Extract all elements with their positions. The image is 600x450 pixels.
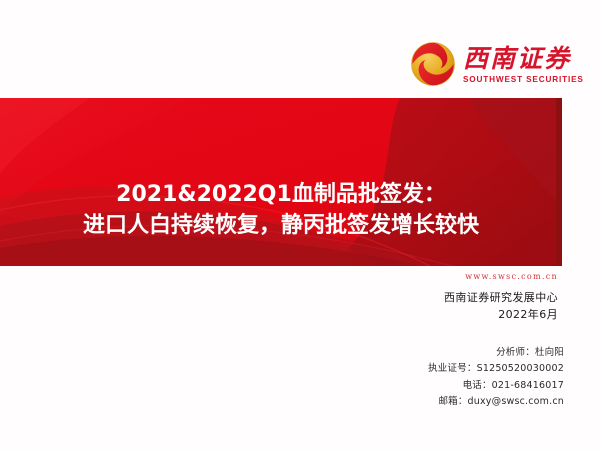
- logo-wordmark: 西南证券 SOUTHWEST SECURITIES: [463, 44, 584, 83]
- company-logo: 西南证券 SOUTHWEST SECURITIES: [410, 36, 585, 92]
- publisher-info: 西南证券研究发展中心 2022年6月: [0, 290, 562, 323]
- logo-english-name: SOUTHWEST SECURITIES: [463, 76, 584, 84]
- analyst-name: 分析师：杜向阳: [0, 345, 564, 361]
- hero-banner: 2021&2022Q1血制品批签发： 进口人白持续恢复，静丙批签发增长较快: [0, 98, 562, 266]
- report-title-line-2: 进口人白持续恢复，静丙批签发增长较快: [83, 210, 479, 241]
- analyst-contact-block: 分析师：杜向阳 执业证号：S1250520030002 电话：021-68416…: [0, 345, 568, 410]
- analyst-phone: 电话：021-68416017: [0, 378, 564, 394]
- research-department-name: 西南证券研究发展中心: [0, 290, 558, 307]
- company-website[interactable]: www.swsc.com.cn: [0, 272, 562, 281]
- report-cover-page: 西南证券 SOUTHWEST SECURITIES: [0, 0, 600, 450]
- analyst-license-number: 执业证号：S1250520030002: [0, 361, 564, 377]
- analyst-email[interactable]: 邮箱：duxy@swsc.com.cn: [0, 394, 564, 410]
- report-title-line-1: 2021&2022Q1血制品批签发：: [116, 179, 446, 210]
- publication-date: 2022年6月: [0, 307, 558, 324]
- logo-chinese-name: 西南证券: [463, 46, 584, 72]
- report-title: 2021&2022Q1血制品批签发： 进口人白持续恢复，静丙批签发增长较快: [0, 98, 562, 266]
- southwest-securities-emblem-icon: [410, 41, 456, 87]
